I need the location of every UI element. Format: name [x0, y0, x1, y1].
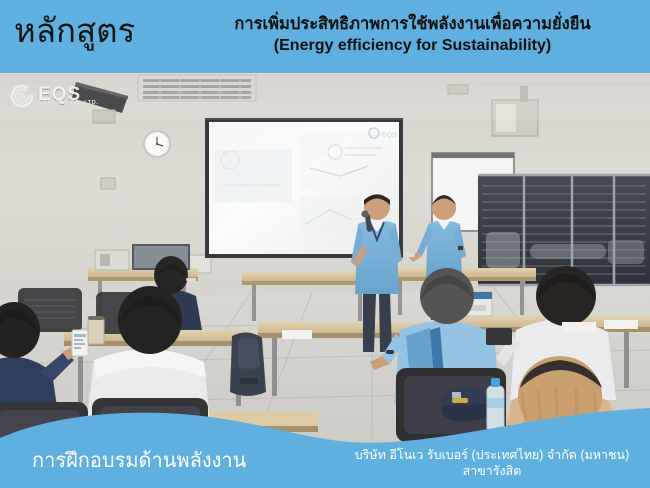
- footer-company-name: บริษัท อีโนเว รับเบอร์ (ประเทศไทย) จำกัด…: [342, 447, 642, 463]
- logo-wordmark: EQS CONSULT CO.,LTD.: [38, 85, 98, 107]
- eqs-consult-logo: EQS CONSULT CO.,LTD.: [8, 80, 100, 112]
- footer-left-label: การฝึกอบรมด้านพลังงาน: [32, 444, 246, 476]
- spiral-swirl-icon: [8, 82, 36, 110]
- logo-tagline: CONSULT CO.,LTD.: [38, 101, 98, 107]
- header-band: หลักสูตร การเพิ่มประสิทธิภาพการใช้พลังงา…: [0, 0, 650, 73]
- training-slide: EQS: [0, 0, 650, 488]
- course-title-english: (Energy efficiency for Sustainability): [185, 35, 640, 57]
- footer-company-block: บริษัท อีโนเว รับเบอร์ (ประเทศไทย) จำกัด…: [342, 447, 642, 479]
- footer-branch-name: สาขารังสิต: [342, 463, 642, 479]
- page-title: การเพิ่มประสิทธิภาพการใช้พลังงานเพื่อควา…: [185, 13, 640, 57]
- header-kicker: หลักสูตร: [14, 11, 135, 51]
- course-title-thai: การเพิ่มประสิทธิภาพการใช้พลังงานเพื่อควา…: [185, 13, 640, 35]
